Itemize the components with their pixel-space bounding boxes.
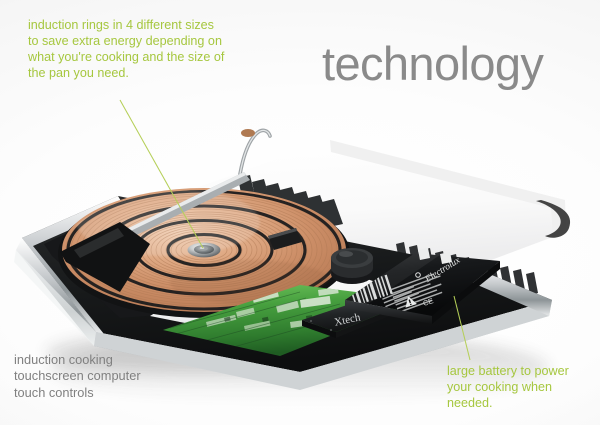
annotation-line: induction rings in 4 different sizes [28, 18, 272, 34]
annotation-line: touchscreen computer [14, 368, 224, 384]
annotation-line: touch controls [14, 385, 224, 401]
annotation-line: large battery to power [447, 364, 597, 380]
annotation-line: induction cooking [14, 352, 224, 368]
annotation-line: needed. [447, 396, 597, 412]
screenshot-stage: Xtech [0, 0, 600, 425]
annotation-line: the pan you need. [28, 66, 272, 82]
annotation-line: your cooking when [447, 380, 597, 396]
annotation-battery: large battery to power your cooking when… [447, 364, 597, 412]
annotation-touch-controls: induction cooking touchscreen computer t… [14, 352, 224, 401]
annotation-line: what you're cooking and the size of [28, 50, 272, 66]
annotation-induction-rings: induction rings in 4 different sizes to … [28, 18, 272, 82]
annotation-line: to save extra energy depending on [28, 34, 272, 50]
page-title: technology [322, 36, 543, 91]
